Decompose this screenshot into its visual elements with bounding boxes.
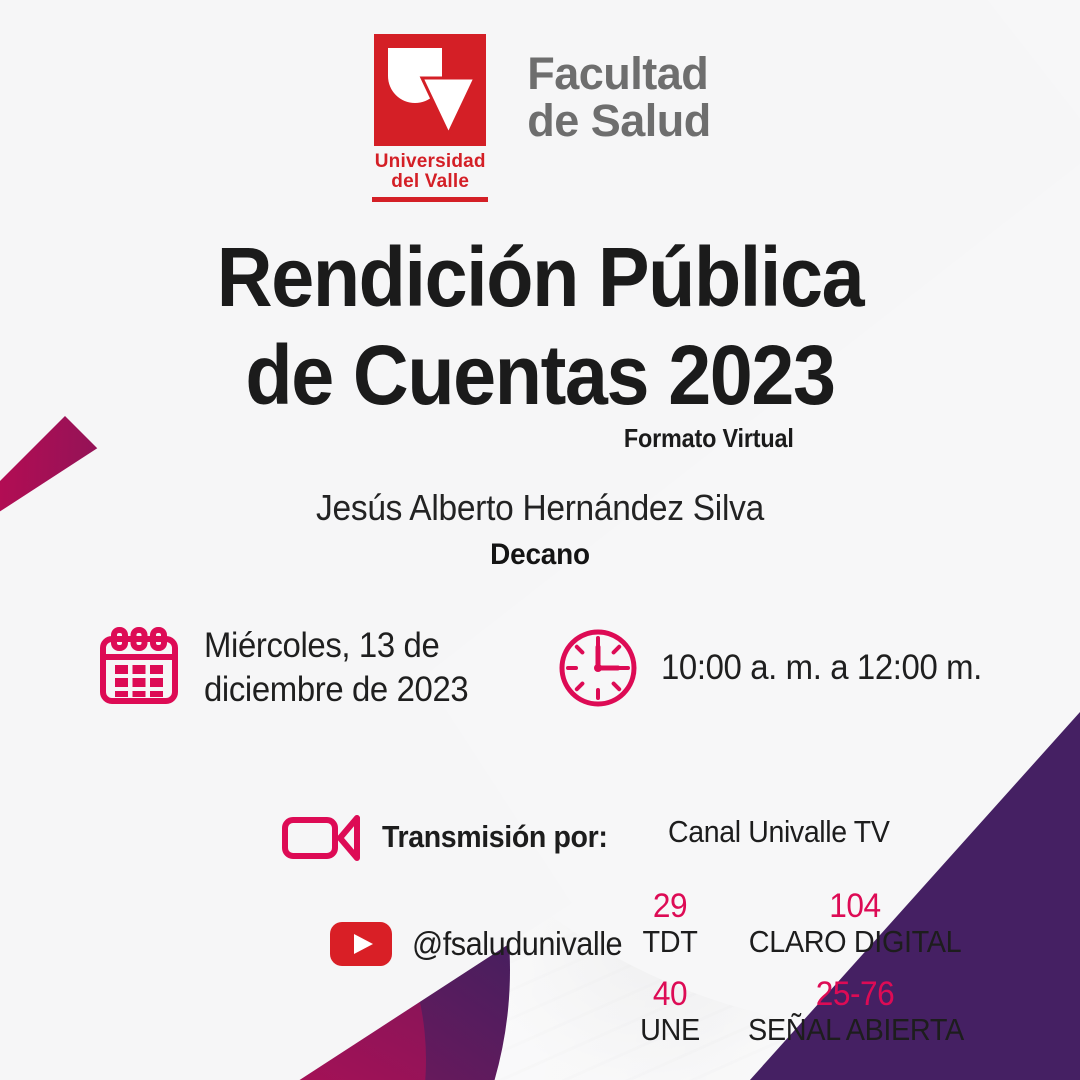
channel-grid: 29 TDT 104 CLARO DIGITAL 40 UNE 25-76 SE… [612,888,970,1048]
channel-number: 29 [616,888,724,924]
channel-item: 40 UNE [616,976,724,1048]
event-details-strip: Miércoles, 13 de diciembre de 2023 [96,624,1020,712]
university-logo: Universidad del Valle [369,34,491,202]
speaker-role: Decano [38,538,1042,572]
channel-number: 104 [748,888,962,924]
event-date-text: Miércoles, 13 de diciembre de 2023 [204,624,468,712]
channel-label: TDT [616,924,724,960]
video-camera-icon [282,812,360,862]
channel-item: 25-76 SEÑAL ABIERTA [748,976,962,1048]
event-time-text: 10:00 a. m. a 12:00 m. [661,646,982,690]
channel-item: 104 CLARO DIGITAL [748,888,962,960]
faculty-title: Facultad de Salud [527,34,711,144]
channel-label: UNE [616,1012,724,1048]
university-name-line1: Universidad [375,152,486,172]
youtube-handle[interactable]: @fsaludunivalle [412,925,622,963]
broadcast-channel-name: Canal Univalle TV [668,814,889,850]
event-poster: Universidad del Valle Facultad de Salud … [0,0,1080,1080]
channel-number: 40 [616,976,724,1012]
university-name-line2: del Valle [375,172,486,192]
speaker-name: Jesús Alberto Hernández Silva [38,487,1042,529]
format-label: Formato Virtual [624,423,794,454]
youtube-row[interactable]: @fsaludunivalle [330,922,638,966]
event-time-block: 10:00 a. m. a 12:00 m. [557,627,1002,709]
channel-item: 29 TDT [616,888,724,960]
logo-underline [372,197,488,202]
youtube-icon[interactable] [330,922,392,966]
page-title: Rendición Pública de Cuentas 2023 [43,228,1037,424]
header-lockup: Universidad del Valle Facultad de Salud [0,34,1080,202]
headline-line2: de Cuentas 2023 [43,326,1037,424]
channel-label: CLARO DIGITAL [748,924,962,960]
channel-label: SEÑAL ABIERTA [748,1012,962,1048]
channel-number: 25-76 [748,976,962,1012]
event-date-block: Miércoles, 13 de diciembre de 2023 [96,624,485,712]
faculty-title-line1: Facultad [527,50,711,97]
headline-line1: Rendición Pública [43,228,1037,326]
calendar-icon [96,625,182,711]
broadcast-row: Transmisión por: [282,812,627,862]
faculty-title-line2: de Salud [527,97,711,144]
university-wordmark: Universidad del Valle [375,152,486,192]
broadcast-label: Transmisión por: [382,819,607,855]
univalle-logo-icon [374,34,486,146]
clock-icon [557,627,639,709]
